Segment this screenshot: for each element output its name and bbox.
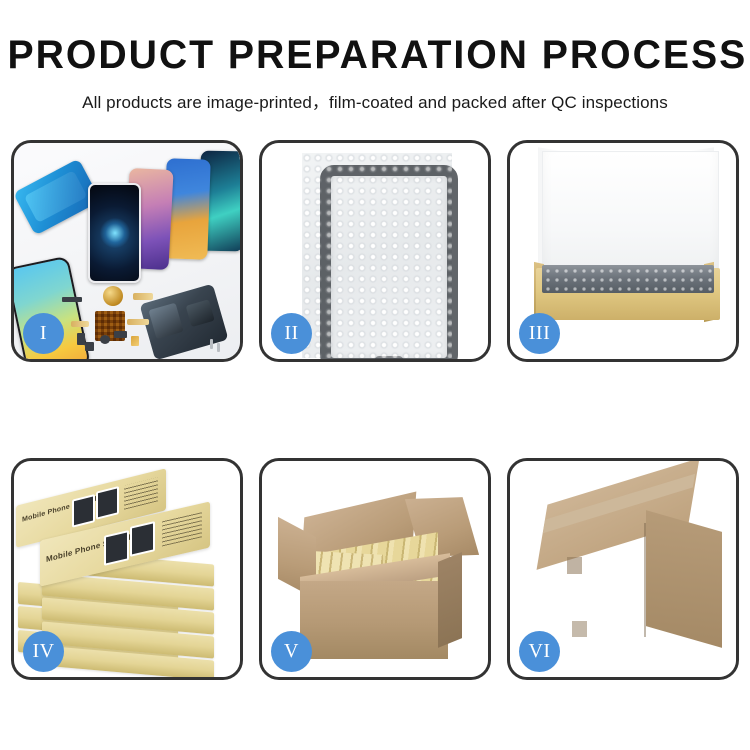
page-subtitle: All products are image-printed，film-coat… <box>0 88 750 113</box>
carton-side-face <box>438 552 462 648</box>
flex-cable-icon-1 <box>133 293 153 300</box>
step-badge-1: I <box>23 313 64 354</box>
step-2-image: II <box>262 143 488 359</box>
phone-screen-outline-icon <box>320 165 458 359</box>
carton-tab-upper <box>567 557 582 574</box>
connector-strip-icon <box>62 297 82 302</box>
screw-icon-1 <box>210 339 213 349</box>
process-step-panel-4: Mobile Phone Spare Parts Mobile Phone Sp… <box>11 458 243 680</box>
step-4-image: Mobile Phone Spare Parts Mobile Phone Sp… <box>14 461 240 677</box>
box-window-rear-1 <box>72 494 95 528</box>
step-5-image: V <box>262 461 488 677</box>
page-header: PRODUCT PREPARATION PROCESS All products… <box>0 0 750 113</box>
carton-front-face <box>300 581 448 659</box>
carton-tab-lower <box>572 621 587 637</box>
process-step-panel-2: II <box>259 140 491 362</box>
step-6-image: VI <box>510 461 736 677</box>
step-1-image: I <box>14 143 240 359</box>
process-step-panel-1: I <box>11 140 243 362</box>
box-spec-lines-front <box>162 511 202 546</box>
box-spec-lines-rear <box>124 477 158 509</box>
small-part-icon-3 <box>114 331 127 338</box>
flex-cable-icon-3 <box>127 319 149 325</box>
page-title: PRODUCT PREPARATION PROCESS <box>8 34 743 76</box>
small-part-icon-5 <box>85 342 94 351</box>
wrapped-screen-in-box <box>542 265 714 293</box>
flex-cable-icon-2 <box>71 321 89 327</box>
white-foam-padding <box>542 151 719 281</box>
sealed-carton-right-face <box>646 510 722 648</box>
phone-black-screen-icon <box>88 183 141 283</box>
screw-icon-2 <box>217 343 220 352</box>
box-window-front-1 <box>104 530 129 566</box>
box-window-rear-2 <box>96 486 119 520</box>
carton-corner-seam <box>644 523 646 637</box>
process-step-panel-6: VI <box>507 458 739 680</box>
process-step-panel-3: III <box>507 140 739 362</box>
step-3-image: III <box>510 143 736 359</box>
small-part-icon-1 <box>77 333 85 345</box>
step-badge-5: V <box>271 631 312 672</box>
step-badge-2: II <box>271 313 312 354</box>
process-step-panel-5: V <box>259 458 491 680</box>
speaker-coil-icon <box>103 286 123 306</box>
step-badge-4: IV <box>23 631 64 672</box>
step-badge-6: VI <box>519 631 560 672</box>
step-badge-3: III <box>519 313 560 354</box>
small-part-icon-4 <box>131 336 139 346</box>
process-steps-grid: I II III <box>11 140 739 680</box>
small-part-icon-2 <box>100 335 110 344</box>
sealed-carton-front-face <box>536 535 646 643</box>
box-window-front-2 <box>130 521 155 557</box>
